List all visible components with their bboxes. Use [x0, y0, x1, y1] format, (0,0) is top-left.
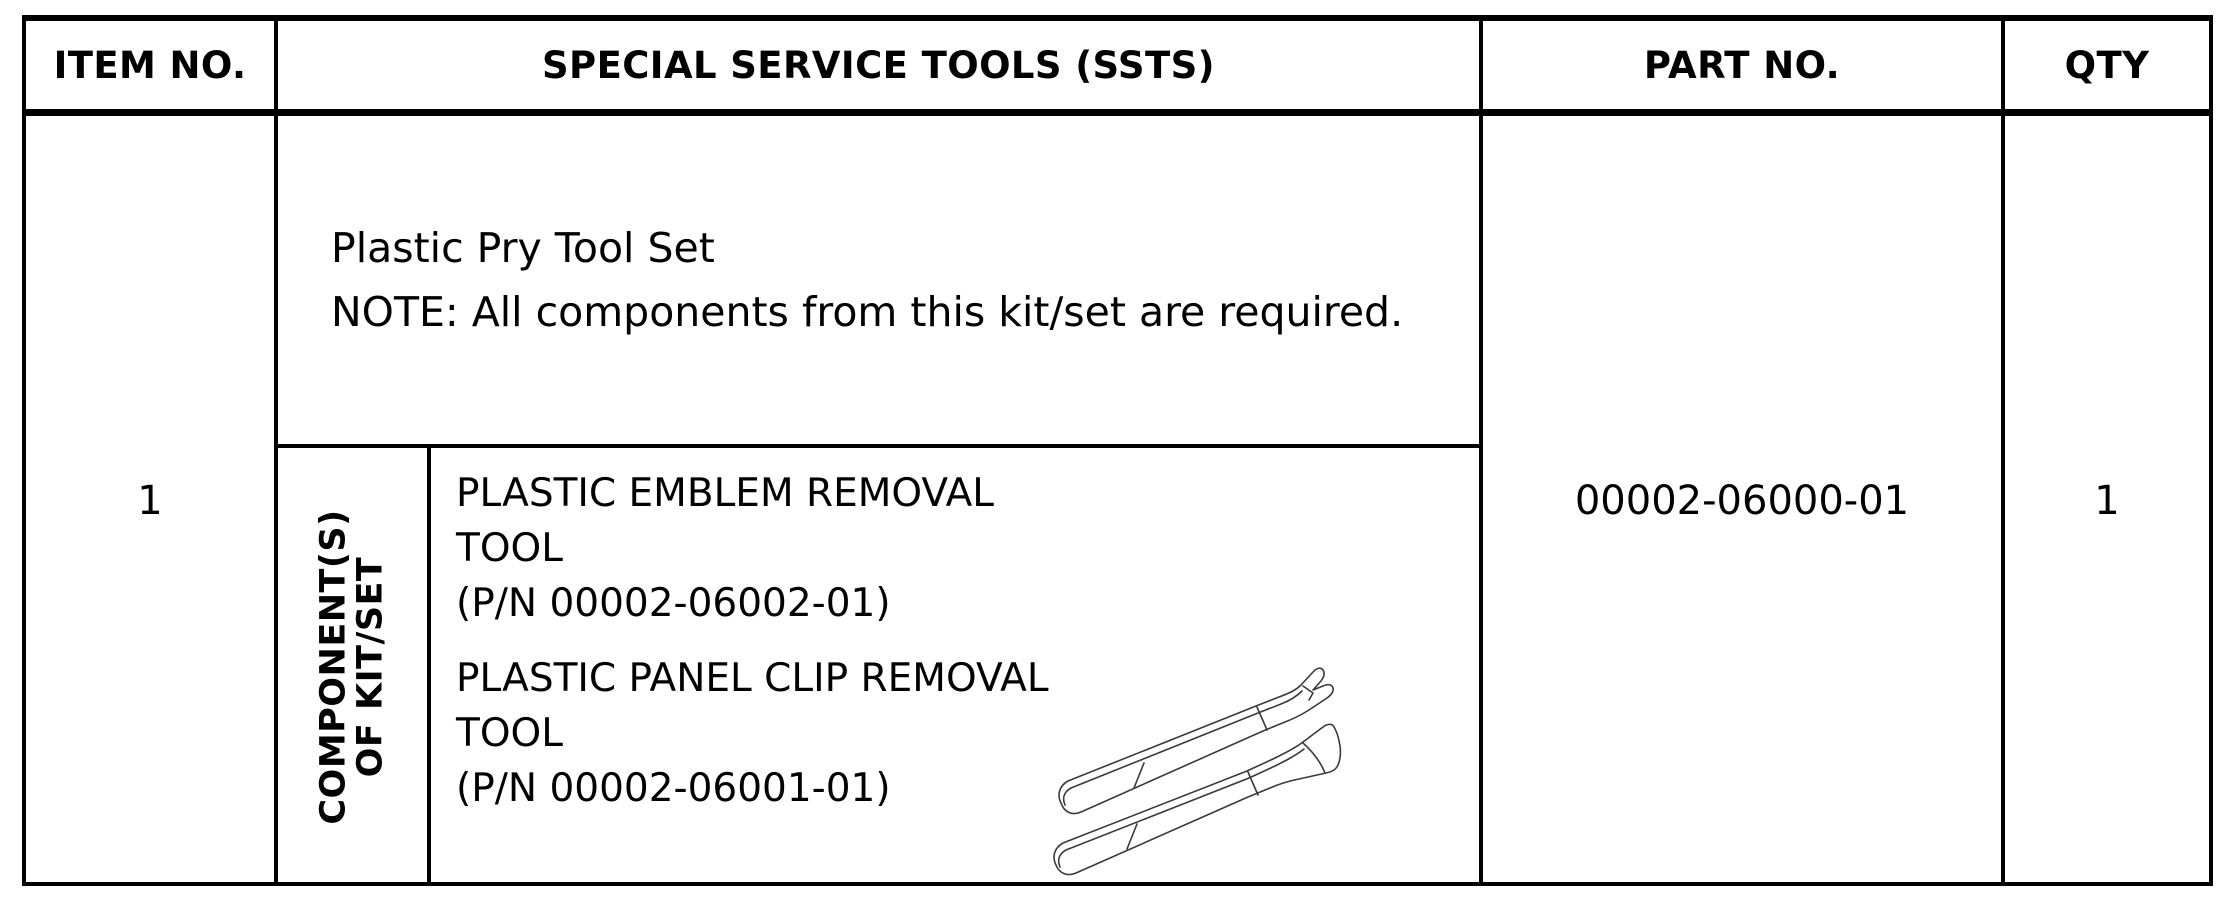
list-item: PLASTIC EMBLEM REMOVAL TOOL (P/N 00002-0… [456, 466, 1096, 631]
kit-components-section: COMPONENT(S) OF KIT/SET PLASTIC EMBLEM R… [278, 448, 1479, 885]
ssts-table-page: ITEM NO. SPECIAL SERVICE TOOLS (SSTS) PA… [0, 0, 2234, 918]
kit-components-list: PLASTIC EMBLEM REMOVAL TOOL (P/N 00002-0… [456, 466, 1096, 816]
component-part-number: (P/N 00002-06001-01) [456, 761, 1096, 816]
kit-components-body: PLASTIC EMBLEM REMOVAL TOOL (P/N 00002-0… [431, 448, 1479, 885]
kit-label-line-1: COMPONENT(S) [316, 509, 353, 824]
component-name-line-1: PLASTIC EMBLEM REMOVAL [456, 466, 1096, 521]
tool-set-note: NOTE: All components from this kit/set a… [331, 280, 1479, 344]
component-name-line-1: PLASTIC PANEL CLIP REMOVAL [456, 651, 1096, 706]
kit-label-line-2: OF KIT/SET [353, 509, 390, 824]
item-no-value: 1 [26, 116, 274, 885]
column-header-special-service-tools: SPECIAL SERVICE TOOLS (SSTS) [278, 21, 1483, 109]
column-header-qty: QTY [2005, 21, 2209, 109]
cell-qty: 1 [2005, 116, 2209, 885]
tool-set-title: Plastic Pry Tool Set [331, 216, 1479, 280]
cell-special-service-tools: Plastic Pry Tool Set NOTE: All component… [278, 116, 1483, 885]
tool-set-description: Plastic Pry Tool Set NOTE: All component… [278, 116, 1479, 448]
column-header-item-no: ITEM NO. [26, 21, 278, 109]
qty-value: 1 [2005, 116, 2209, 885]
part-no-value: 00002-06000-01 [1483, 116, 2001, 885]
kit-components-vertical-label-text: COMPONENT(S) OF KIT/SET [316, 509, 390, 824]
cell-item-no: 1 [26, 116, 278, 885]
plastic-pry-tool-set-illustration [1051, 653, 1381, 878]
table-header-row: ITEM NO. SPECIAL SERVICE TOOLS (SSTS) PA… [26, 21, 2209, 116]
table-row: 1 Plastic Pry Tool Set NOTE: All compone… [26, 116, 2209, 885]
component-name-line-2: TOOL [456, 706, 1096, 761]
special-service-tools-table: ITEM NO. SPECIAL SERVICE TOOLS (SSTS) PA… [22, 15, 2213, 886]
kit-components-vertical-label: COMPONENT(S) OF KIT/SET [278, 448, 431, 885]
cell-part-no: 00002-06000-01 [1483, 116, 2005, 885]
list-item: PLASTIC PANEL CLIP REMOVAL TOOL (P/N 000… [456, 651, 1096, 816]
column-header-part-no: PART NO. [1483, 21, 2005, 109]
component-name-line-2: TOOL [456, 521, 1096, 576]
component-part-number: (P/N 00002-06002-01) [456, 576, 1096, 631]
